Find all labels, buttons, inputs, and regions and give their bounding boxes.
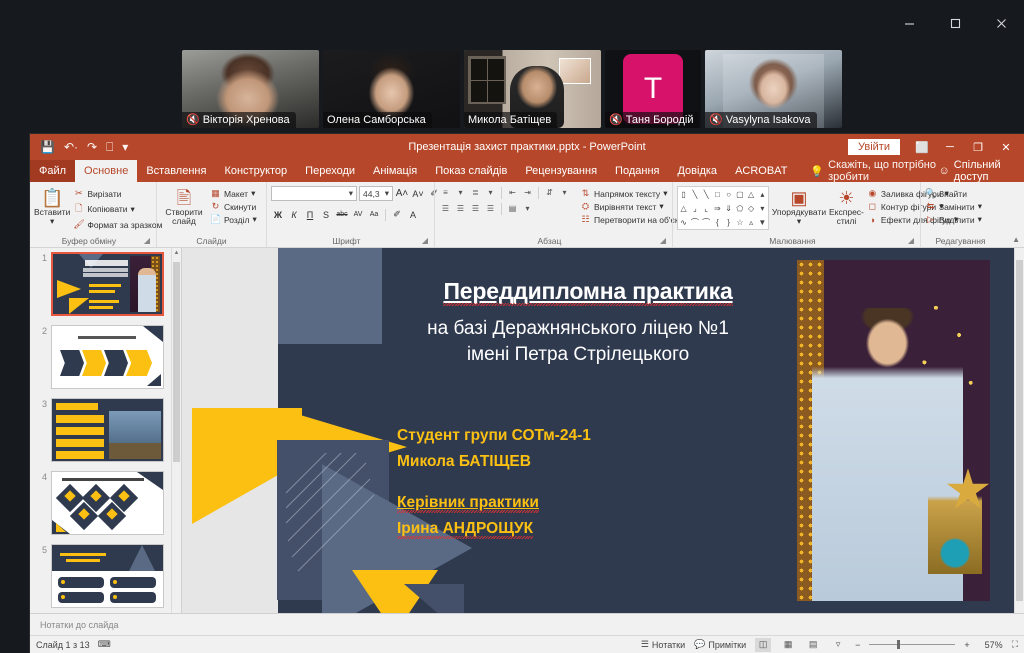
tab-home[interactable]: Основне <box>75 160 137 182</box>
shape-elbow-icon[interactable]: ⌟ <box>693 204 697 213</box>
avatar-initial-4: T <box>644 72 662 106</box>
decrease-font-size-button[interactable]: A˅ <box>411 186 425 201</box>
ribbon-display-options-icon[interactable]: ⬜ <box>908 135 936 159</box>
participant-name-badge-5: 🔇 Vasylyna Isakova <box>705 112 817 128</box>
tell-me-label: Скажіть, що потрібно зробити <box>828 159 938 183</box>
shape-elbow2-icon[interactable]: ⌞ <box>704 204 708 213</box>
student-group-text: Студент групи СОТм-24-1 <box>397 428 591 444</box>
slide-title-text[interactable]: Переддипломна практика <box>362 278 814 305</box>
text-direction-icon: ⇅ <box>580 188 591 199</box>
powerpoint-restore-button[interactable]: ❐ <box>964 135 992 159</box>
replace-label: Замінити <box>939 202 975 212</box>
numbering-button[interactable]: ≣ <box>469 186 482 199</box>
numbering-dropdown-icon[interactable]: ▾ <box>484 186 497 199</box>
slide-credits-block[interactable]: Студент групи СОТм-24-1 Микола БАТІЩЕВ К… <box>397 428 591 546</box>
thumbnail-slide-5[interactable] <box>51 544 164 608</box>
shape-oval-icon[interactable]: ○ <box>726 190 731 199</box>
text-highlight-button[interactable]: ✐ <box>390 207 404 222</box>
font-size-combobox[interactable]: 44,3 ▾ <box>359 186 393 201</box>
arrange-icon: ▣ <box>790 188 807 208</box>
notes-icon: ☰ <box>641 639 649 650</box>
font-name-combobox[interactable]: ▾ <box>271 186 357 201</box>
chevron-down-icon[interactable]: ▾ <box>978 201 982 212</box>
slide-thumbnail-list: 1 <box>30 248 171 613</box>
thumbnail-row-4[interactable]: 4 <box>30 471 171 535</box>
zoom-slider[interactable] <box>869 644 955 645</box>
quick-styles-button[interactable]: ☀ Експрес-стилі <box>829 186 864 226</box>
copy-button[interactable]: 🗋 Копіювати ▾ <box>73 201 162 217</box>
shape-roundrect-icon[interactable]: ▢ <box>736 190 744 199</box>
paragraph-row-top: ≡ ▾ ≣ ▾ ⇤ ⇥ ⇵ ▾ <box>439 186 571 199</box>
tab-file[interactable]: Файл <box>30 160 75 182</box>
tab-animations[interactable]: Анімація <box>364 160 426 182</box>
chevron-down-icon[interactable]: ▾ <box>978 214 982 225</box>
status-bar-left: Слайд 1 з 13 ⌨ <box>36 639 111 650</box>
collapse-ribbon-icon[interactable]: ▲ <box>1012 235 1020 244</box>
format-painter-label: Формат за зразком <box>87 220 162 230</box>
drawing-dialog-launcher[interactable]: ◢ <box>908 235 914 247</box>
pen-outline-icon: ◻ <box>867 201 878 212</box>
font-group-label: ◢ Шрифт <box>271 235 430 247</box>
increase-font-size-button[interactable]: A˄ <box>395 186 409 201</box>
cursor-select-icon: ▷ <box>925 214 936 225</box>
divider <box>501 187 502 199</box>
chevron-down-icon: ▾ <box>349 188 353 199</box>
slide-vertical-scrollbar[interactable] <box>1014 248 1024 613</box>
view-reading-button[interactable]: ▤ <box>805 638 821 652</box>
shape-freeform-icon[interactable]: ∿ <box>680 218 687 227</box>
layout-dropdown-icon[interactable]: ▾ <box>251 188 255 199</box>
new-slide-icon: 🖹 <box>177 188 191 208</box>
copy-label: Копіювати <box>87 204 127 214</box>
slide-thumbnail-pane[interactable]: 1 <box>30 248 182 613</box>
cut-label: Вирізати <box>87 189 121 199</box>
thumbnail-slide-1[interactable] <box>51 252 164 316</box>
reset-label: Скинути <box>224 202 256 212</box>
shapes-gallery[interactable]: ▯ ╲ ╲ □ ○ ▢ △ ▴ △ ⌟ ⌞ ⇒ ⇓ ⬠ ◇ <box>677 186 769 230</box>
zoom-minimize-button[interactable] <box>886 7 932 39</box>
scissors-icon: ✂ <box>73 188 84 199</box>
bullets-button[interactable]: ≡ <box>439 186 452 199</box>
paste-dropdown-icon[interactable]: ▾ <box>50 217 54 226</box>
tab-help[interactable]: Довідка <box>668 160 726 182</box>
shape-more-icon[interactable]: △ <box>748 190 754 199</box>
divider <box>501 203 502 215</box>
participant-name-2: Олена Самборська <box>327 114 426 126</box>
shape-curve-icon[interactable]: ⌒ <box>691 217 699 228</box>
shape-triangle-icon[interactable]: △ <box>681 204 687 213</box>
spacer <box>397 479 591 495</box>
notes-placeholder: Нотатки до слайда <box>40 620 119 630</box>
zoom-close-button[interactable] <box>978 7 1024 39</box>
current-slide[interactable]: Переддипломна практика на базі Деражнянс… <box>182 248 1014 613</box>
thumbnail-scrollbar[interactable]: ▲ <box>171 248 181 613</box>
slide-counter: Слайд 1 з 13 <box>36 640 90 650</box>
effects-icon: ◑ <box>867 215 878 225</box>
tell-me-search[interactable]: 💡 Скажіть, що потрібно зробити <box>796 160 938 182</box>
person-icon: ☺ <box>939 165 950 177</box>
reset-icon: ↻ <box>210 201 221 212</box>
strikethrough-button[interactable]: abc <box>335 207 349 222</box>
muted-microphone-icon: 🔇 <box>186 115 200 126</box>
status-bar: Слайд 1 з 13 ⌨ ☰ Нотатки 💬 Примітки ◫ ▦ … <box>30 635 1024 653</box>
participant-name-3: Микола Батіщев <box>468 114 551 126</box>
shape-line-icon[interactable]: ╲ <box>692 190 697 199</box>
comment-bubble-icon: 💬 <box>694 639 705 650</box>
format-painter-button[interactable]: 🖌 Формат за зразком <box>73 219 162 230</box>
shape-arrow-right-icon[interactable]: ⇒ <box>714 204 721 213</box>
powerpoint-window: 💾 ↶· ↷ ⎕ ▾ Презентація захист практики.p… <box>30 134 1024 653</box>
shape-star-icon[interactable]: ☆ <box>736 218 743 227</box>
powerpoint-minimize-button[interactable]: ─ <box>936 135 964 159</box>
tab-review[interactable]: Рецензування <box>516 160 606 182</box>
ribbon-group-drawing: ▯ ╲ ╲ □ ○ ▢ △ ▴ △ ⌟ ⌞ ⇒ ⇓ ⬠ ◇ <box>672 182 920 247</box>
find-label: Знайти <box>939 189 967 199</box>
shapes-more-icon[interactable]: ▼ <box>758 218 766 227</box>
font-row-top: ▾ 44,3 ▾ A˄ A˅ ✐ <box>271 186 441 201</box>
thumbnail-number-3: 3 <box>33 398 47 409</box>
photo-trophy <box>928 444 982 574</box>
copy-dropdown-icon[interactable]: ▾ <box>131 204 135 215</box>
muted-microphone-icon: 🔇 <box>709 115 723 126</box>
zoom-maximize-button[interactable] <box>932 7 978 39</box>
ribbon-home: 📋 Вставити ▾ ✂ Вирізати 🗋 Копіювати ▾ <box>30 182 1024 248</box>
change-case-button[interactable]: Aa <box>367 207 381 222</box>
participant-name-badge-2: Олена Самборська <box>323 112 432 128</box>
powerpoint-close-button[interactable]: ✕ <box>992 135 1020 159</box>
slide-photo[interactable] <box>797 260 990 601</box>
comments-toggle-button[interactable]: 💬 Примітки <box>694 639 746 650</box>
shape-rect-icon[interactable]: □ <box>715 190 720 199</box>
language-icon[interactable]: ⌨ <box>98 639 111 650</box>
section-label: Розділ <box>224 215 249 225</box>
status-bar-right: ☰ Нотатки 💬 Примітки ◫ ▦ ▤ ▿ − + 57% ⛶ <box>641 638 1018 652</box>
slide-subtitle-text[interactable]: на базі Деражнянського ліцею №1 імені Пе… <box>332 316 824 368</box>
participant-tile-5[interactable]: 🔇 Vasylyna Isakova <box>705 50 842 128</box>
supervisor-label-text: Керівник практики <box>397 495 591 511</box>
participant-name-1: Вікторія Хренова <box>203 114 290 126</box>
align-right-button[interactable]: ☰ <box>469 202 482 215</box>
thumbnail-number-1: 1 <box>33 252 47 263</box>
tab-view[interactable]: Подання <box>606 160 668 182</box>
slide-canvas-area[interactable]: Переддипломна практика на базі Деражнянс… <box>182 248 1024 613</box>
editing-group-label: Редагування <box>925 235 996 247</box>
tab-insert[interactable]: Вставлення <box>137 160 215 182</box>
reset-button[interactable]: ↻ Скинути <box>210 201 257 212</box>
shapes-grid[interactable]: ▯ ╲ ╲ □ ○ ▢ △ ▴ △ ⌟ ⌞ ⇒ ⇓ ⬠ ◇ <box>677 186 769 230</box>
section-dropdown-icon[interactable]: ▾ <box>252 214 256 225</box>
student-name-text: Микола БАТІЩЕВ <box>397 454 591 470</box>
slide-editor-pane: Переддипломна практика на базі Деражнянс… <box>182 248 1024 613</box>
chevron-down-icon[interactable]: ▾ <box>659 201 663 212</box>
text-direction-label: Напрямок тексту <box>594 189 660 199</box>
participant-tile-3-active-speaker[interactable]: Микола Батіщев <box>464 50 601 128</box>
notes-label: Нотатки <box>652 640 685 650</box>
participant-tile-2[interactable]: Олена Самборська <box>323 50 460 128</box>
participant-name-badge-4: 🔇 Таня Бородій <box>605 112 699 128</box>
participant-filmstrip: 🔇 Вікторія Хренова Олена Самборська Мико… <box>0 50 1024 128</box>
thumbnail-scrollbar-thumb[interactable] <box>173 262 180 462</box>
font-dialog-launcher[interactable]: ◢ <box>422 235 428 247</box>
align-text-label: Вирівняти текст <box>594 202 656 212</box>
ribbon-group-clipboard: 📋 Вставити ▾ ✂ Вирізати 🗋 Копіювати ▾ <box>30 182 156 247</box>
shape-misc-icon[interactable]: ◇ <box>748 204 754 213</box>
slides-group-label: Слайди <box>161 235 262 247</box>
drawing-group-label: ◢ Малювання <box>677 235 916 247</box>
participant-tile-1[interactable]: 🔇 Вікторія Хренова <box>182 50 319 128</box>
section-icon: 📄 <box>210 214 221 225</box>
slide-scrollbar-thumb[interactable] <box>1016 260 1023 601</box>
font-row-bottom: Ж К П S abc AV Aa ✐ A <box>271 207 420 222</box>
participant-tile-4[interactable]: T 🔇 Таня Бородій <box>605 50 701 128</box>
save-icon[interactable]: 💾 <box>40 141 55 153</box>
thumbnail-row-2[interactable]: 2 <box>30 325 171 389</box>
lightbulb-icon: 💡 <box>810 165 824 178</box>
participant-name-badge-3: Микола Батіщев <box>464 112 557 128</box>
copy-icon: 🗋 <box>73 201 84 217</box>
thumbnail-number-5: 5 <box>33 544 47 555</box>
paragraph-row-bottom: ☰ ☰ ☰ ☰ ▤ ▾ <box>439 202 571 215</box>
view-normal-button[interactable]: ◫ <box>755 638 771 652</box>
zoom-titlebar <box>0 0 1024 46</box>
participant-name-badge-1: 🔇 Вікторія Хренова <box>182 112 296 128</box>
layout-icon: ▦ <box>210 188 221 199</box>
clipboard-group-label: ◢ Буфер обміну <box>34 235 152 247</box>
shape-extra-icon[interactable]: ▵ <box>749 218 753 227</box>
smartart-icon: ☷ <box>580 214 591 225</box>
cut-button[interactable]: ✂ Вирізати <box>73 188 162 199</box>
new-slide-label: Створити слайд <box>161 208 207 226</box>
section-button[interactable]: 📄 Розділ ▾ <box>210 214 257 225</box>
comments-label: Примітки <box>708 640 746 650</box>
select-label: Виділити <box>939 215 975 225</box>
share-label: Спільний доступ <box>954 159 1014 183</box>
columns-dropdown-icon[interactable]: ▾ <box>521 202 534 215</box>
ribbon-group-slides: 🖹 Створити слайд ▦ Макет ▾ ↻ Скинути 📄 <box>156 182 266 247</box>
justify-button[interactable]: ☰ <box>484 202 497 215</box>
replace-button[interactable]: ⇆ Замінити ▾ <box>925 201 982 212</box>
increase-indent-button[interactable]: ⇥ <box>521 186 534 199</box>
thumbnail-number-2: 2 <box>33 325 47 336</box>
divider <box>538 187 539 199</box>
view-slide-sorter-button[interactable]: ▦ <box>780 638 796 652</box>
zoom-out-button[interactable]: − <box>855 640 860 650</box>
shape-arc-icon[interactable]: ⌒ <box>702 217 710 228</box>
powerpoint-titlebar: 💾 ↶· ↷ ⎕ ▾ Презентація захист практики.p… <box>30 134 1024 160</box>
chevron-down-icon: ▾ <box>385 188 389 199</box>
tab-transitions[interactable]: Переходи <box>296 160 364 182</box>
shape-pentagon-icon[interactable]: ⬠ <box>736 204 743 213</box>
participant-name-4: Таня Бородій <box>626 114 694 126</box>
thumbnail-row-1[interactable]: 1 <box>30 252 171 316</box>
align-left-button[interactable]: ☰ <box>439 202 452 215</box>
shape-line2-icon[interactable]: ╲ <box>704 190 709 199</box>
tab-design[interactable]: Конструктор <box>215 160 296 182</box>
chevron-down-icon[interactable]: ▾ <box>663 188 667 199</box>
sign-in-button[interactable]: Увійти <box>848 139 900 155</box>
titlebar-right-controls: Увійти ⬜ ─ ❐ ✕ <box>848 135 1024 159</box>
shapes-scroll-down-icon[interactable]: ▾ <box>760 204 764 213</box>
thumbnail-row-3[interactable]: 3 <box>30 398 171 462</box>
paragraph-dialog-launcher[interactable]: ◢ <box>660 235 666 247</box>
redo-icon[interactable]: ↷ <box>87 141 97 153</box>
share-button[interactable]: ☺ Спільний доступ <box>939 160 1024 182</box>
notes-pane[interactable]: Нотатки до слайда <box>30 613 1024 635</box>
ribbon-group-paragraph: ≡ ▾ ≣ ▾ ⇤ ⇥ ⇵ ▾ ☰ ☰ ☰ <box>434 182 672 247</box>
ribbon-group-editing: 🔍 Знайти ⇆ Замінити ▾ ▷ Виділити ▾ Ред <box>920 182 1000 247</box>
brush-icon: 🖌 <box>73 219 84 230</box>
layout-button[interactable]: ▦ Макет ▾ <box>210 188 257 199</box>
subtitle-line-2: імені Петра Стрілецького <box>332 342 824 368</box>
view-slideshow-button[interactable]: ▿ <box>830 638 846 652</box>
ribbon-tabs: Файл Основне Вставлення Конструктор Пере… <box>30 160 1024 182</box>
tab-slideshow[interactable]: Показ слайдів <box>426 160 516 182</box>
find-button[interactable]: 🔍 Знайти <box>925 188 982 199</box>
quick-styles-label: Експрес-стилі <box>829 208 864 226</box>
thumbnail-slide-4[interactable] <box>51 471 164 535</box>
thumbnail-slide-2[interactable] <box>51 325 164 389</box>
shape-textbox-icon[interactable]: ▯ <box>681 190 685 199</box>
start-slideshow-icon[interactable]: ⎕ <box>106 141 113 153</box>
shape-brace-left-icon[interactable]: { <box>716 218 719 227</box>
participant-name-5: Vasylyna Isakova <box>726 114 811 126</box>
shapes-scroll-up-icon[interactable]: ▴ <box>760 190 764 199</box>
paragraph-group-label: ◢ Абзац <box>439 235 668 247</box>
line-spacing-button[interactable]: ⇵ <box>543 186 556 199</box>
scroll-up-icon[interactable]: ▲ <box>172 250 181 256</box>
hatch-lines-decor <box>286 453 376 573</box>
columns-button[interactable]: ▤ <box>506 202 519 215</box>
fit-slide-button[interactable]: ⛶ <box>1012 639 1018 650</box>
text-shadow-button[interactable]: S <box>319 207 333 222</box>
zoom-in-button[interactable]: + <box>964 640 969 650</box>
layout-label: Макет <box>224 189 248 199</box>
thumbnail-slide-3[interactable] <box>51 398 164 462</box>
arrange-button[interactable]: ▣ Упорядкувати ▾ <box>772 186 826 226</box>
zoom-percent-label[interactable]: 57% <box>979 640 1003 650</box>
quick-access-toolbar: 💾 ↶· ↷ ⎕ ▾ <box>30 141 128 153</box>
customize-qat-icon[interactable]: ▾ <box>122 141 128 153</box>
paint-bucket-icon: ◉ <box>867 188 878 199</box>
search-icon: 🔍 <box>925 188 936 199</box>
shape-arrow-down-icon[interactable]: ⇓ <box>725 204 732 213</box>
chevron-down-icon[interactable]: ▾ <box>797 217 801 226</box>
bullets-dropdown-icon[interactable]: ▾ <box>454 186 467 199</box>
clipboard-dialog-launcher[interactable]: ◢ <box>144 235 150 247</box>
quick-styles-icon: ☀ <box>838 188 854 208</box>
character-spacing-button[interactable]: AV <box>351 207 365 222</box>
thumbnail-number-4: 4 <box>33 471 47 482</box>
zoom-slider-thumb[interactable] <box>897 640 900 649</box>
new-slide-button[interactable]: 🖹 Створити слайд <box>161 186 207 226</box>
paste-icon: 📋 <box>41 188 63 208</box>
line-spacing-dropdown-icon[interactable]: ▾ <box>558 186 571 199</box>
decrease-indent-button[interactable]: ⇤ <box>506 186 519 199</box>
bold-button[interactable]: Ж <box>271 207 285 222</box>
wall-picture-decor <box>559 58 591 84</box>
select-button[interactable]: ▷ Виділити ▾ <box>925 214 982 225</box>
shape-brace-right-icon[interactable]: } <box>727 218 730 227</box>
italic-button[interactable]: К <box>287 207 301 222</box>
align-center-button[interactable]: ☰ <box>454 202 467 215</box>
underline-button[interactable]: П <box>303 207 317 222</box>
undo-icon[interactable]: ↶· <box>64 141 78 153</box>
supervisor-name-text: Ірина АНДРОЩУК <box>397 521 591 537</box>
work-area: 1 <box>30 248 1024 613</box>
ribbon-group-font: ▾ 44,3 ▾ A˄ A˅ ✐ Ж К П S abc AV <box>266 182 434 247</box>
paste-button[interactable]: 📋 Вставити ▾ <box>34 186 70 226</box>
font-color-button[interactable]: A <box>406 207 420 222</box>
notes-toggle-button[interactable]: ☰ Нотатки <box>641 639 685 650</box>
tab-acrobat[interactable]: ACROBAT <box>726 160 796 182</box>
divider <box>385 209 386 221</box>
subtitle-line-1: на базі Деражнянського ліцею №1 <box>332 316 824 342</box>
thumbnail-row-5[interactable]: 5 <box>30 544 171 608</box>
muted-microphone-icon: 🔇 <box>609 115 623 126</box>
align-text-icon: ⛭ <box>580 201 591 212</box>
replace-icon: ⇆ <box>925 201 936 212</box>
